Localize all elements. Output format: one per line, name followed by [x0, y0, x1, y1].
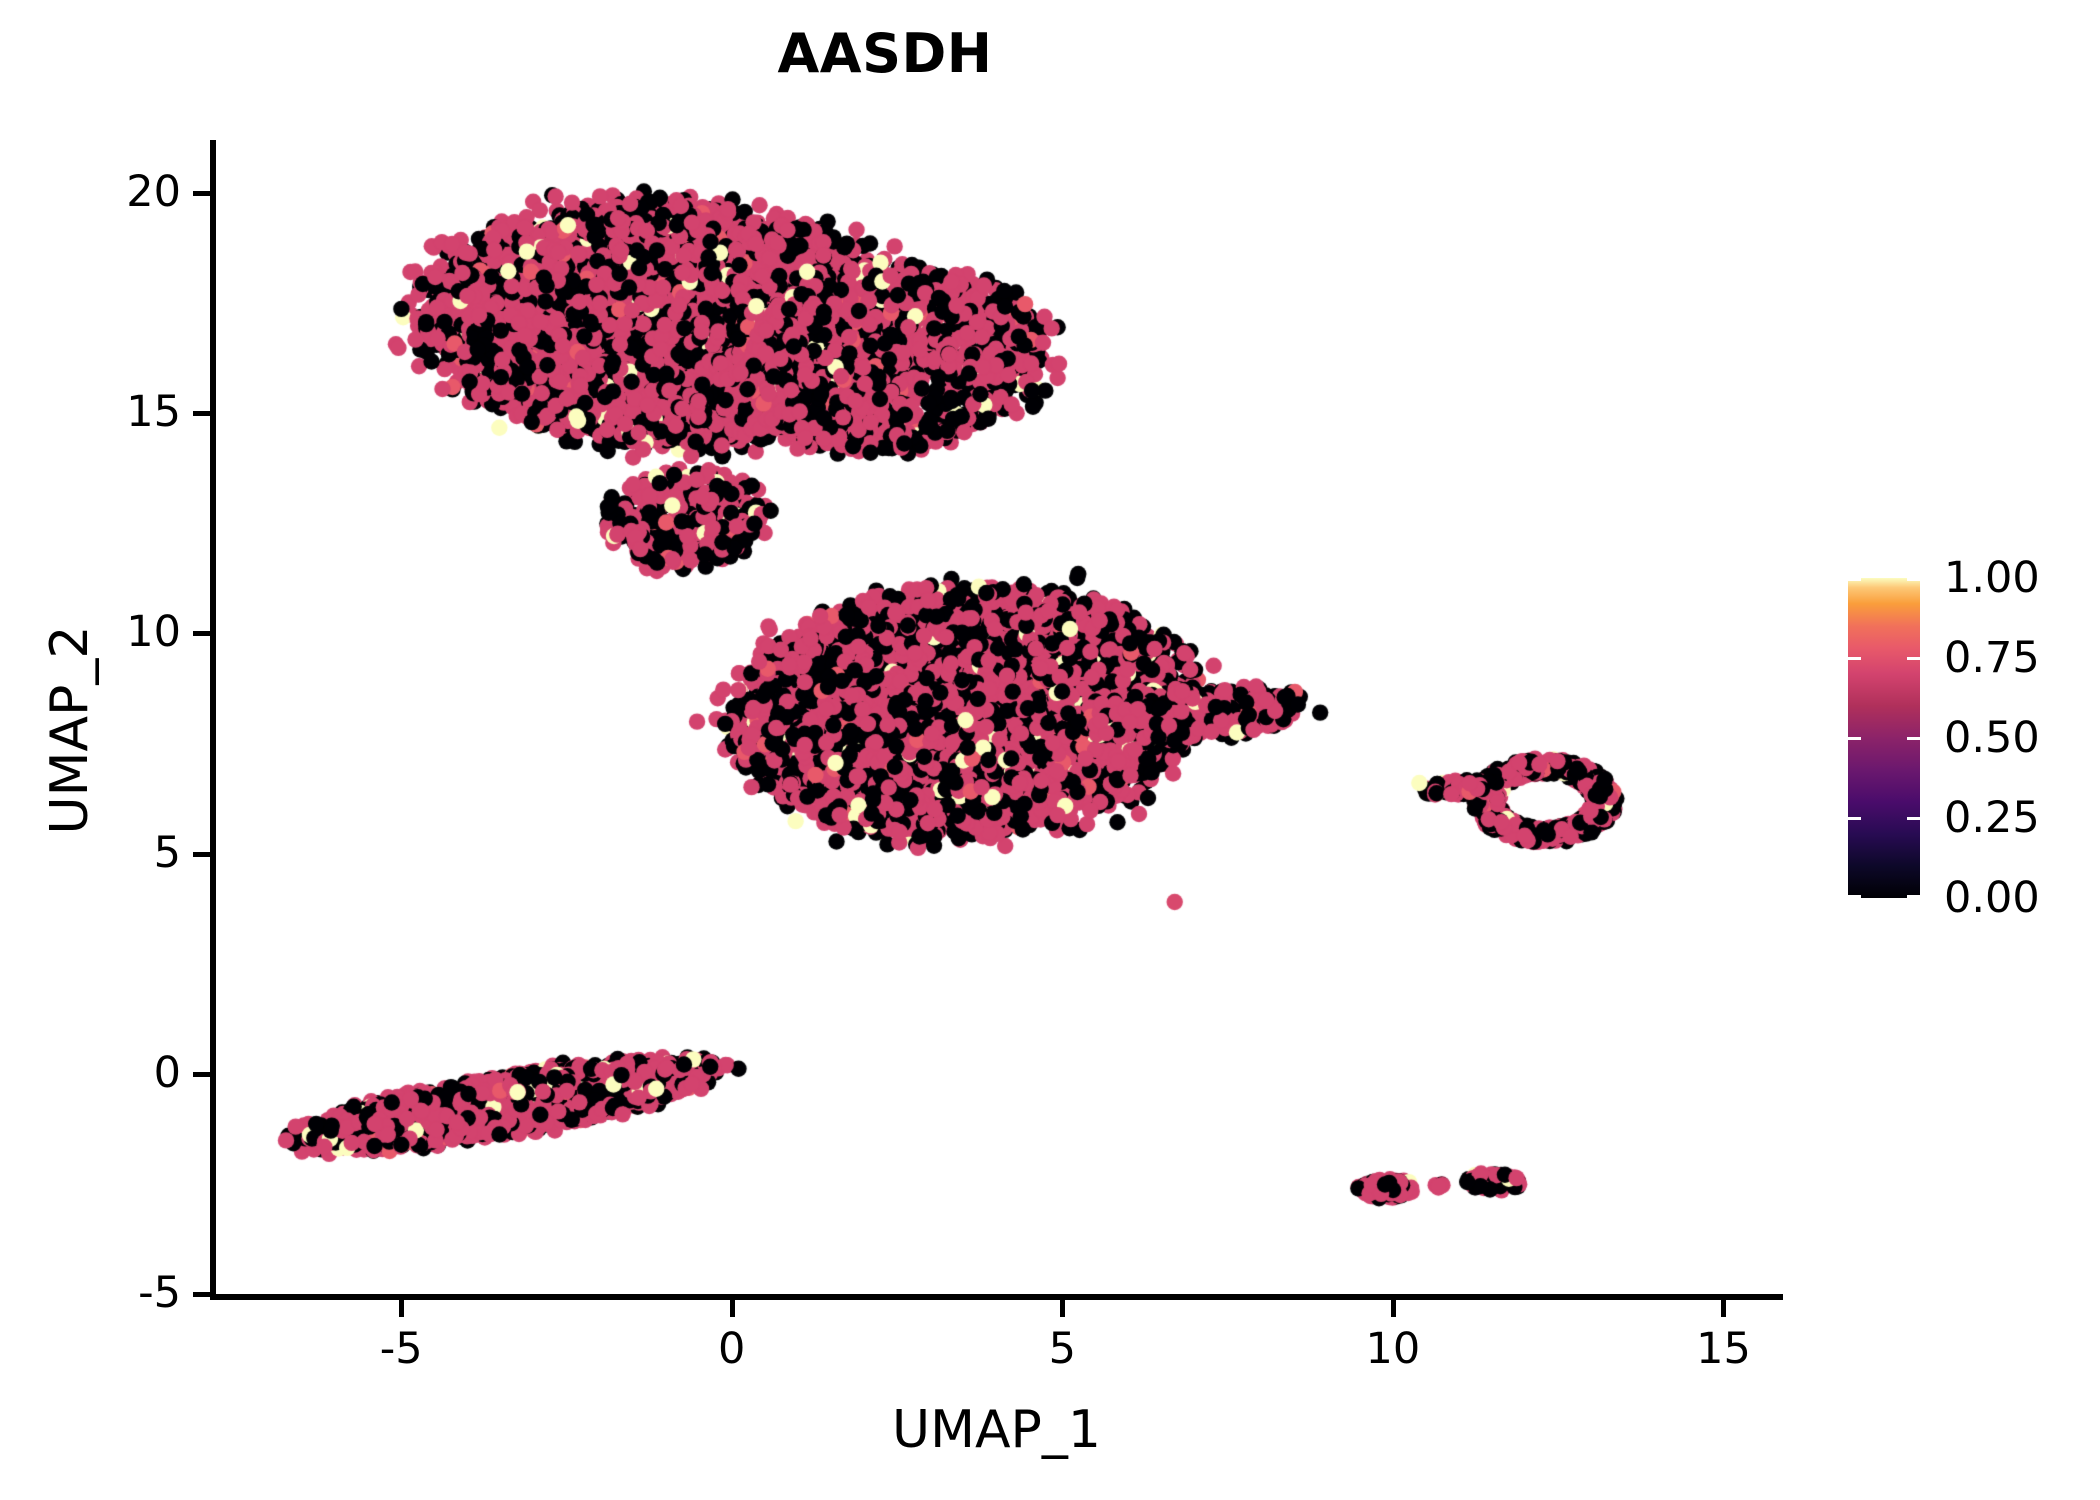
colorbar-tick-label: 0.50 [1944, 713, 2040, 763]
colorbar-tick-mark [1907, 657, 1920, 660]
x-tick-mark [1391, 1300, 1396, 1317]
colorbar-tick-label: 0.25 [1944, 793, 2040, 843]
axes-frame [210, 140, 1783, 1300]
colorbar-tick-mark [1907, 737, 1920, 740]
y-tick-mark [193, 411, 210, 416]
x-tick-mark [1060, 1300, 1065, 1317]
colorbar-tick-mark [1848, 737, 1861, 740]
colorbar-tick-mark [1907, 895, 1920, 898]
y-tick-mark [193, 1072, 210, 1077]
y-tick-mark [193, 631, 210, 636]
colorbar-tick-label: 0.00 [1944, 873, 2040, 923]
x-axis-label: UMAP_1 [210, 1400, 1783, 1460]
y-axis-label: UMAP_2 [40, 150, 100, 1310]
x-tick-mark [730, 1300, 735, 1317]
colorbar-tick-label: 0.75 [1944, 633, 2040, 683]
y-axis-spine [210, 140, 216, 1300]
page-title: AASDH [0, 22, 1770, 85]
y-tick-mark [193, 191, 210, 196]
y-tick-mark [193, 1292, 210, 1297]
x-tick-label: -5 [301, 1324, 501, 1374]
colorbar[interactable] [1848, 578, 1920, 898]
colorbar-tick-mark [1848, 578, 1861, 581]
x-tick-label: 10 [1293, 1324, 1493, 1374]
colorbar-tick-mark [1907, 578, 1920, 581]
x-tick-mark [399, 1300, 404, 1317]
x-tick-label: 15 [1623, 1324, 1823, 1374]
x-tick-mark [1721, 1300, 1726, 1317]
colorbar-tick-label: 1.00 [1944, 553, 2040, 603]
colorbar-tick-mark [1848, 895, 1861, 898]
colorbar-tick-mark [1848, 657, 1861, 660]
x-axis-spine [210, 1294, 1783, 1300]
umap-feature-plot: AASDH -505101520 -5051015 UMAP_1 UMAP_2 … [0, 0, 2100, 1500]
x-tick-label: 0 [632, 1324, 832, 1374]
y-tick-mark [193, 852, 210, 857]
colorbar-tick-mark [1848, 817, 1861, 820]
x-tick-label: 5 [962, 1324, 1162, 1374]
colorbar-tick-mark [1907, 817, 1920, 820]
